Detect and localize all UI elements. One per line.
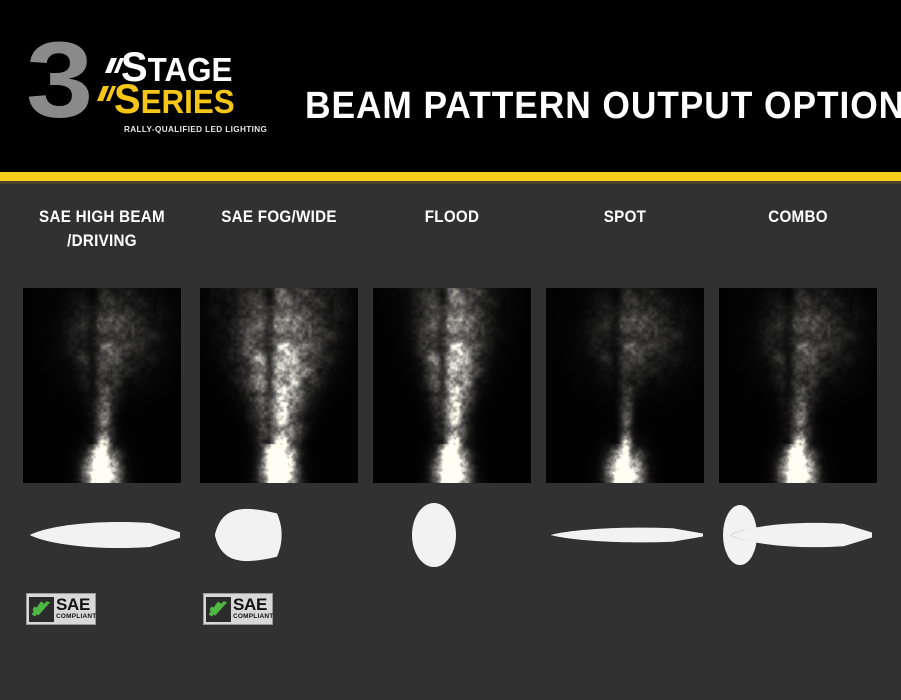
beam-diagram-spot [545, 500, 705, 570]
beam-photo-canvas [546, 288, 704, 483]
checkmark-glyph [208, 601, 229, 619]
beam-photo-canvas [719, 288, 877, 483]
beam-diagram-combo [718, 500, 878, 570]
checkmark-glyph [31, 601, 52, 619]
beam-diagram-flood [372, 500, 532, 570]
check-icon [206, 597, 231, 622]
column-header-sae-fog-wide: SAE FOG/WIDE [206, 205, 351, 229]
beam-photo-combo[interactable] [719, 288, 877, 483]
sae-badge-text: SAECOMPLIANT [231, 597, 273, 621]
beam-photo-canvas [373, 288, 531, 483]
column-header-combo: COMBO [725, 205, 870, 229]
beam-photo-canvas [200, 288, 358, 483]
beam-photo-sae-high-beam-driving[interactable] [23, 288, 181, 483]
beam-diagram-sae-high-beam-driving [22, 500, 182, 570]
beam-pattern-grid: SAE HIGH BEAM /DRIVINGSAECOMPLIANTSAE FO… [0, 184, 901, 700]
logo-wordmark: STAGE SERIES RALLY-QUALIFIED LED LIGHTIN… [114, 50, 279, 142]
beam-photo-canvas [23, 288, 181, 483]
sae-compliant-badge-sae-high-beam-driving: SAECOMPLIANT [26, 593, 96, 625]
sae-badge-title: SAE [233, 597, 267, 613]
logo-series-word: SERIES [114, 82, 235, 118]
logo-tagline: RALLY-QUALIFIED LED LIGHTING [124, 124, 267, 134]
check-icon [29, 597, 54, 622]
logo-numeral-3: 3 [26, 28, 87, 132]
page-header: 3 STAGE SERIES RALLY-QUALIFIED LED LIGHT… [0, 0, 901, 172]
yellow-divider [0, 172, 901, 181]
sae-badge-subtitle: COMPLIANT [56, 613, 96, 621]
beam-photo-sae-fog-wide[interactable] [200, 288, 358, 483]
sae-compliant-badge-sae-fog-wide: SAECOMPLIANT [203, 593, 273, 625]
column-header-flood: FLOOD [379, 205, 524, 229]
logo-series-initial: S [114, 75, 141, 122]
sae-badge-text: SAECOMPLIANT [54, 597, 96, 621]
column-header-sae-high-beam-driving: SAE HIGH BEAM /DRIVING [29, 205, 174, 253]
column-header-spot: SPOT [552, 205, 697, 229]
beam-photo-flood[interactable] [373, 288, 531, 483]
beam-diagram-sae-fog-wide [199, 500, 359, 570]
brand-logo: 3 STAGE SERIES RALLY-QUALIFIED LED LIGHT… [26, 28, 276, 140]
logo-series-rest: ERIES [141, 83, 235, 120]
sae-badge-title: SAE [56, 597, 90, 613]
page-title: BEAM PATTERN OUTPUT OPTIONS [305, 86, 901, 126]
beam-photo-spot[interactable] [546, 288, 704, 483]
sae-badge-subtitle: COMPLIANT [233, 613, 273, 621]
